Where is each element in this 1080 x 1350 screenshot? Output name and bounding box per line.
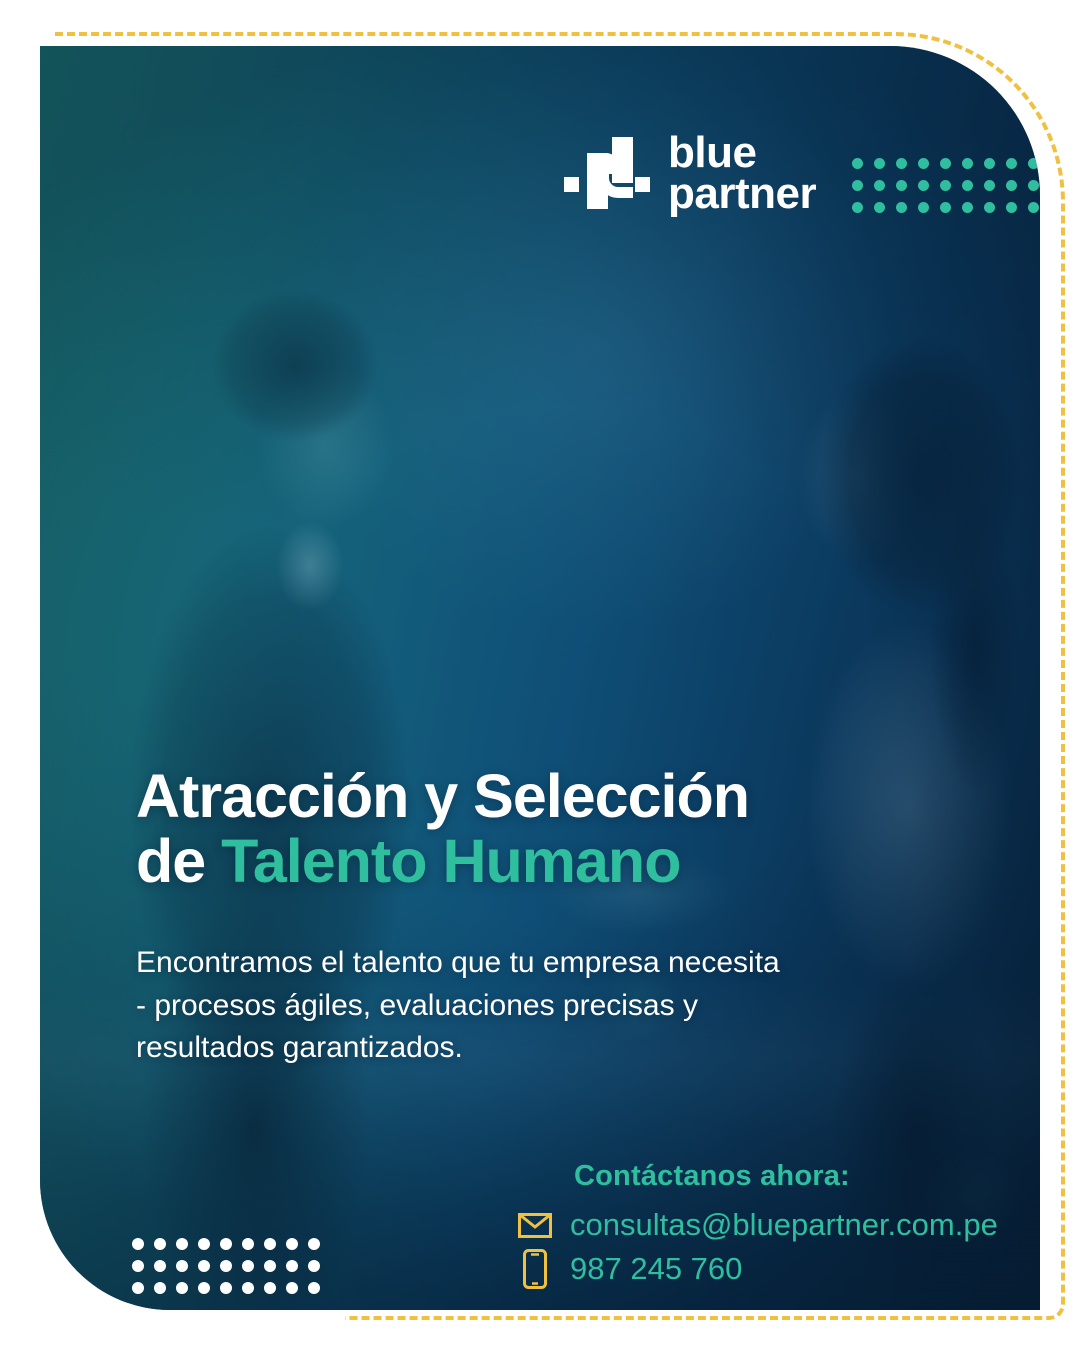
- headline-accent: Talento Humano: [221, 827, 680, 895]
- mobile-phone-icon: [518, 1249, 552, 1289]
- headline-line-2: de Talento Humano: [136, 829, 749, 894]
- poster-card: blue partner Atracción y Selección de Ta…: [40, 46, 1040, 1310]
- headline-line-1: Atracción y Selección: [136, 764, 749, 829]
- contact-block: Contáctanos ahora: consultas@bluepartner…: [574, 1160, 998, 1295]
- contact-title: Contáctanos ahora:: [574, 1160, 998, 1193]
- photo-vignette: [40, 46, 1040, 1310]
- headline-line-2-prefix: de: [136, 827, 221, 895]
- dot-grid-icon-bottom-left: [132, 1238, 330, 1304]
- logomark-square-right: [635, 177, 650, 192]
- brand-name-line2: partner: [668, 173, 816, 214]
- contact-phone[interactable]: 987 245 760: [570, 1251, 742, 1287]
- brand-wordmark: blue partner: [668, 132, 816, 215]
- envelope-icon: [518, 1213, 552, 1238]
- headline: Atracción y Selección de Talento Humano: [136, 764, 749, 893]
- contact-email-row[interactable]: consultas@bluepartner.com.pe: [574, 1207, 998, 1243]
- brand-name-line1: blue: [668, 132, 816, 173]
- dot-grid-icon-top-right: [852, 158, 1040, 224]
- contact-phone-row[interactable]: 987 245 760: [574, 1249, 998, 1289]
- contact-email[interactable]: consultas@bluepartner.com.pe: [570, 1207, 998, 1243]
- subcopy-paragraph: Encontramos el talento que tu empresa ne…: [136, 942, 796, 1070]
- brand-logo: blue partner: [564, 132, 816, 215]
- logomark-square-left: [564, 177, 579, 192]
- bluepartner-logomark-icon: [564, 137, 650, 209]
